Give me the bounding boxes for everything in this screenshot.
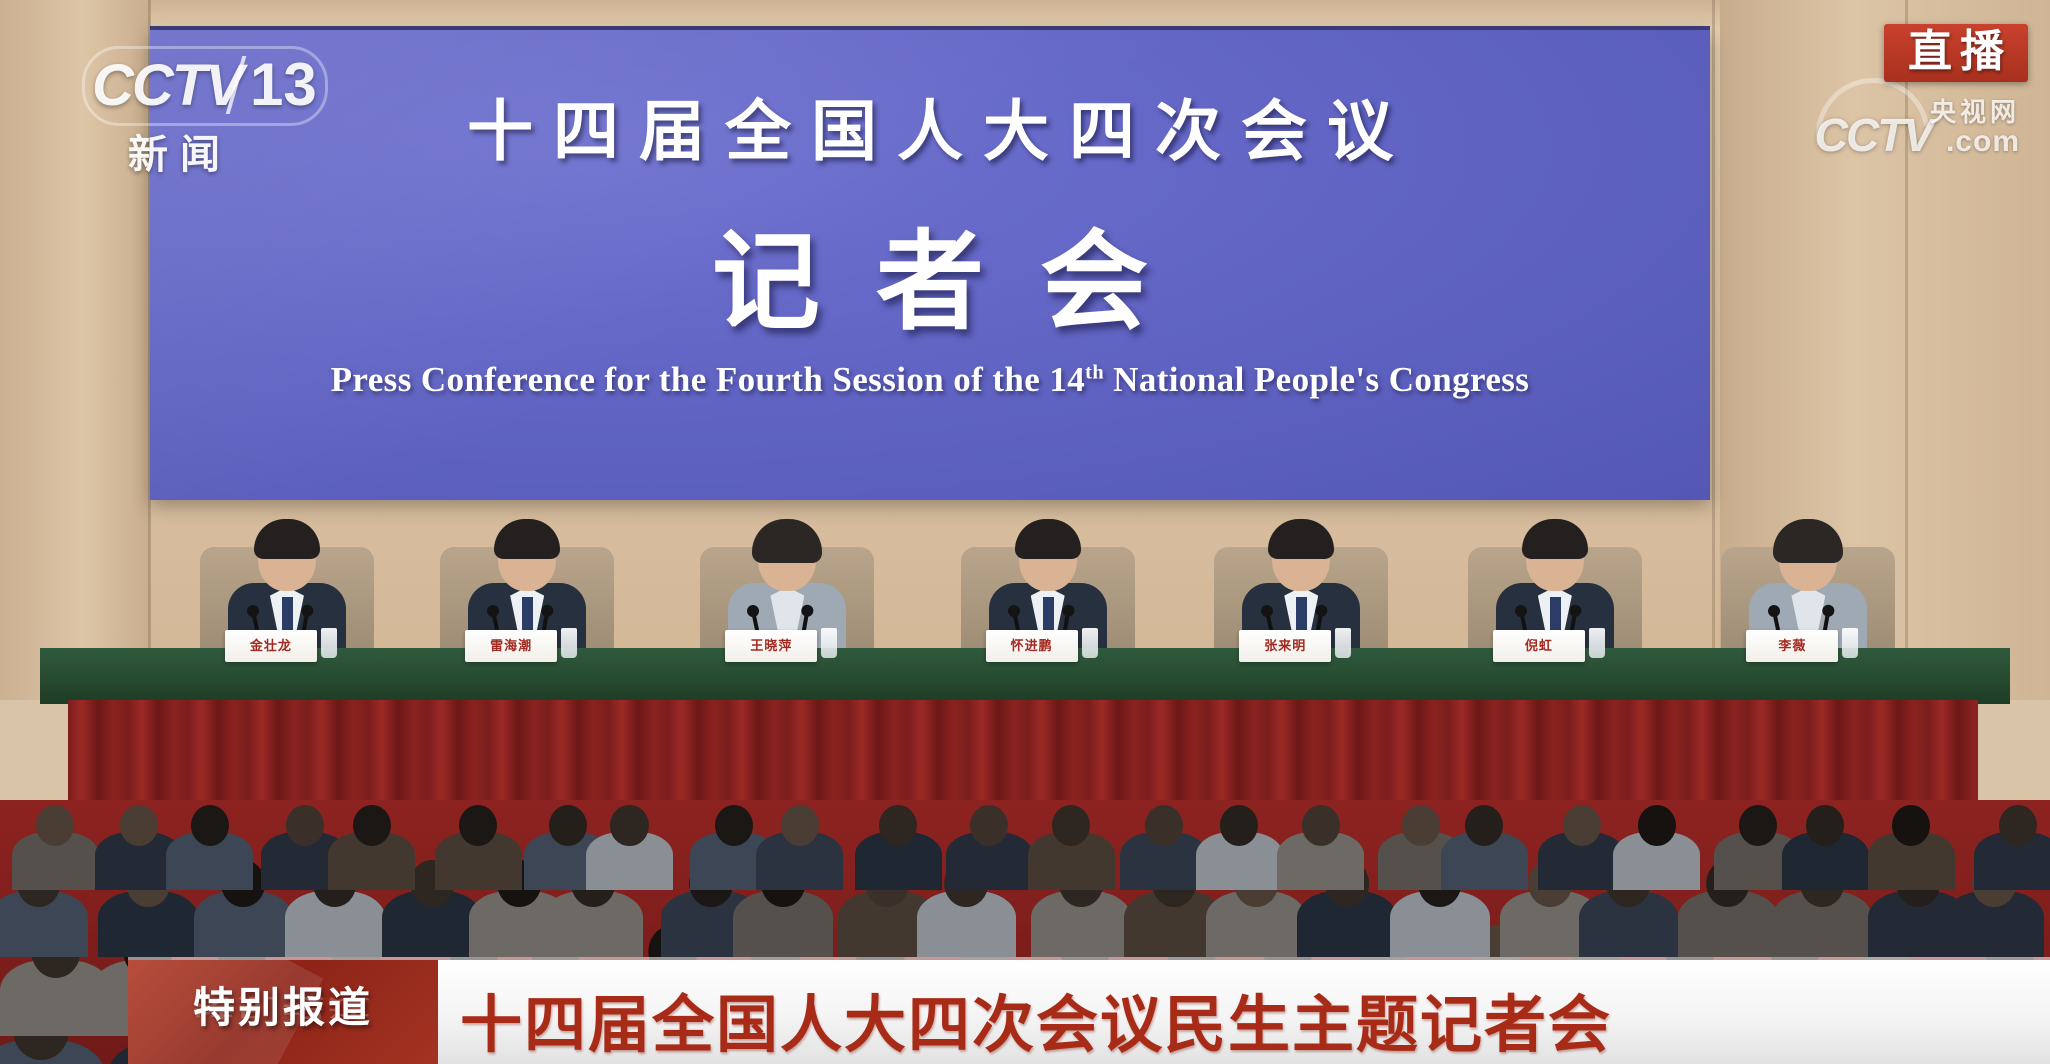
audience-member bbox=[166, 805, 253, 885]
audience-head bbox=[1638, 805, 1676, 846]
backdrop-subject: 记者会 bbox=[150, 195, 1710, 351]
panelist-hair bbox=[254, 519, 320, 559]
audience-head bbox=[1806, 805, 1844, 846]
lower-third-headline: 十四届全国人大四次会议民生主题记者会 bbox=[460, 974, 1612, 1064]
audience-member bbox=[1782, 805, 1869, 885]
audience-member bbox=[1441, 805, 1528, 885]
panelist-nameplate-text: 李薇 bbox=[1746, 630, 1838, 662]
backdrop-english-subtitle: Press Conference for the Fourth Session … bbox=[150, 360, 1710, 400]
channel-logo-bug: CCTV 13 新闻 bbox=[92, 52, 322, 170]
audience-head bbox=[715, 805, 753, 846]
audience-head bbox=[353, 805, 391, 846]
panelist-nameplate: 张来明 bbox=[1239, 630, 1331, 662]
audience-head bbox=[1145, 805, 1183, 846]
audience-head bbox=[36, 805, 74, 846]
wall-seam-right bbox=[1712, 0, 1715, 700]
panelist-nameplate-text: 怀进鹏 bbox=[986, 630, 1078, 662]
special-report-reflection: 特别报道 bbox=[128, 992, 438, 1026]
panelist-nameplate-text: 王晓萍 bbox=[725, 630, 817, 662]
water-glass bbox=[561, 628, 577, 658]
cctv-com-watermark: 央视网 .com bbox=[1930, 92, 2020, 159]
panelist-nameplate-text: 张来明 bbox=[1239, 630, 1331, 662]
audience-member bbox=[756, 805, 843, 885]
panelist-nameplate: 雷海潮 bbox=[465, 630, 557, 662]
english-before: Press Conference for the Fourth Session … bbox=[331, 360, 1086, 399]
water-glass bbox=[1082, 628, 1098, 658]
panelist-hair bbox=[1015, 519, 1081, 559]
panelist-hair bbox=[1773, 519, 1843, 563]
panelist-nameplate: 金壮龙 bbox=[225, 630, 317, 662]
broadcast-screen: 十四届全国人大四次会议 记者会 Press Conference for the… bbox=[0, 0, 2050, 1064]
panelist-hair bbox=[752, 519, 822, 563]
audience-member bbox=[328, 805, 415, 885]
audience-member bbox=[855, 805, 942, 885]
audience-head bbox=[549, 805, 587, 846]
panelist-hair bbox=[1522, 519, 1588, 559]
panelist-nameplate-text: 雷海潮 bbox=[465, 630, 557, 662]
audience-head bbox=[1739, 805, 1777, 846]
english-after: National People's Congress bbox=[1104, 360, 1529, 399]
audience-head bbox=[191, 805, 229, 846]
conference-backdrop: 十四届全国人大四次会议 记者会 Press Conference for the… bbox=[150, 30, 1710, 500]
audience-head bbox=[286, 805, 324, 846]
audience-head bbox=[1301, 805, 1339, 846]
watermark-cctv-wordmark: CCTV bbox=[1815, 108, 1932, 162]
audience-member bbox=[1277, 805, 1364, 885]
audience-head bbox=[1892, 805, 1930, 846]
audience-member bbox=[1196, 805, 1283, 885]
panelist-nameplate: 怀进鹏 bbox=[986, 630, 1078, 662]
audience-head bbox=[1999, 805, 2037, 846]
audience-member bbox=[1120, 805, 1207, 885]
audience-member bbox=[586, 805, 673, 885]
channel-name-label: 新闻 bbox=[128, 122, 232, 180]
audience-member bbox=[1613, 805, 1700, 885]
live-badge-text: 直播 bbox=[1900, 30, 2012, 74]
audience-head bbox=[1563, 805, 1601, 846]
audience-head bbox=[120, 805, 158, 846]
cctv-wordmark: CCTV bbox=[92, 52, 242, 119]
audience-head bbox=[781, 805, 819, 846]
audience-member bbox=[946, 805, 1033, 885]
panelist-hair bbox=[494, 519, 560, 559]
panelist-nameplate: 李薇 bbox=[1746, 630, 1838, 662]
panelist-nameplate: 王晓萍 bbox=[725, 630, 817, 662]
channel-number: 13 bbox=[250, 50, 317, 119]
audience-member bbox=[435, 805, 522, 885]
english-ordinal: th bbox=[1085, 361, 1104, 383]
audience-head bbox=[879, 805, 917, 846]
water-glass bbox=[1842, 628, 1858, 658]
audience-member bbox=[1974, 805, 2050, 885]
special-report-tag: 特别报道 特别报道 bbox=[128, 960, 438, 1064]
watermark-cn-text: 央视网 bbox=[1930, 92, 2020, 129]
water-glass bbox=[821, 628, 837, 658]
audience-head bbox=[1402, 805, 1440, 846]
panelist-nameplate: 倪虹 bbox=[1493, 630, 1585, 662]
backdrop-title: 十四届全国人大四次会议 bbox=[150, 78, 1710, 174]
audience-head bbox=[1052, 805, 1090, 846]
audience-member bbox=[1868, 805, 1955, 885]
audience-member bbox=[12, 805, 99, 885]
lower-third-banner: 特别报道 特别报道 十四届全国人大四次会议民生主题记者会 bbox=[0, 960, 2050, 1064]
water-glass bbox=[321, 628, 337, 658]
panelist-hair bbox=[1268, 519, 1334, 559]
panelist-nameplate-text: 倪虹 bbox=[1493, 630, 1585, 662]
audience-head bbox=[610, 805, 648, 846]
audience-head bbox=[459, 805, 497, 846]
water-glass bbox=[1335, 628, 1351, 658]
audience-head bbox=[1220, 805, 1258, 846]
audience-head bbox=[1465, 805, 1503, 846]
live-badge: 直播 bbox=[1884, 24, 2028, 82]
audience-head bbox=[970, 805, 1008, 846]
watermark-com-text: .com bbox=[1930, 125, 2020, 159]
panelist-nameplate-text: 金壮龙 bbox=[225, 630, 317, 662]
audience-member bbox=[1028, 805, 1115, 885]
water-glass bbox=[1589, 628, 1605, 658]
